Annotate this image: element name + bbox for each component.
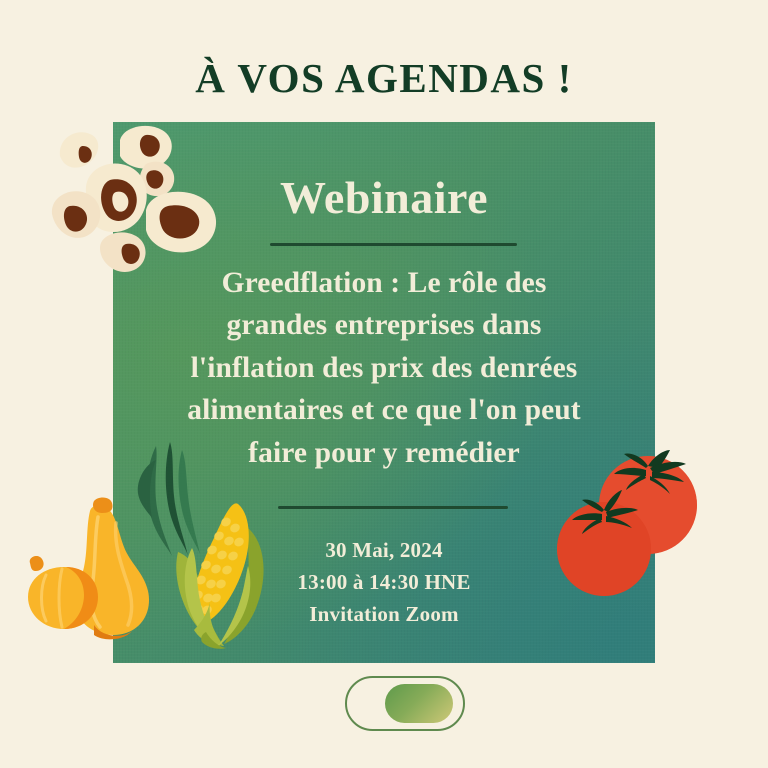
card-title: Webinaire [113, 175, 655, 221]
subject-line-4: alimentaires et ce que l'on peut [123, 389, 645, 431]
logo-blob [385, 684, 453, 723]
webinar-poster: À VOS AGENDAS ! Webinaire Greedflation :… [0, 0, 768, 768]
event-details: 30 Mai, 2024 13:00 à 14:30 HNE Invitatio… [123, 535, 645, 631]
subject-line-3: l'inflation des prix des denrées [123, 347, 645, 389]
capsule-logo[interactable] [345, 676, 465, 731]
event-date: 30 Mai, 2024 [123, 535, 645, 567]
subject-line-2: grandes entreprises dans [123, 304, 645, 346]
subject-line-1: Greedflation : Le rôle des [123, 262, 645, 304]
divider-top [270, 243, 517, 246]
page-title: À VOS AGENDAS ! [0, 58, 768, 99]
green-content-card: Webinaire Greedflation : Le rôle des gra… [113, 122, 655, 663]
divider-bottom [278, 506, 508, 509]
event-platform: Invitation Zoom [123, 599, 645, 631]
event-time: 13:00 à 14:30 HNE [123, 567, 645, 599]
subject-line-5: faire pour y remédier [123, 432, 645, 474]
webinar-subject: Greedflation : Le rôle des grandes entre… [123, 262, 645, 474]
